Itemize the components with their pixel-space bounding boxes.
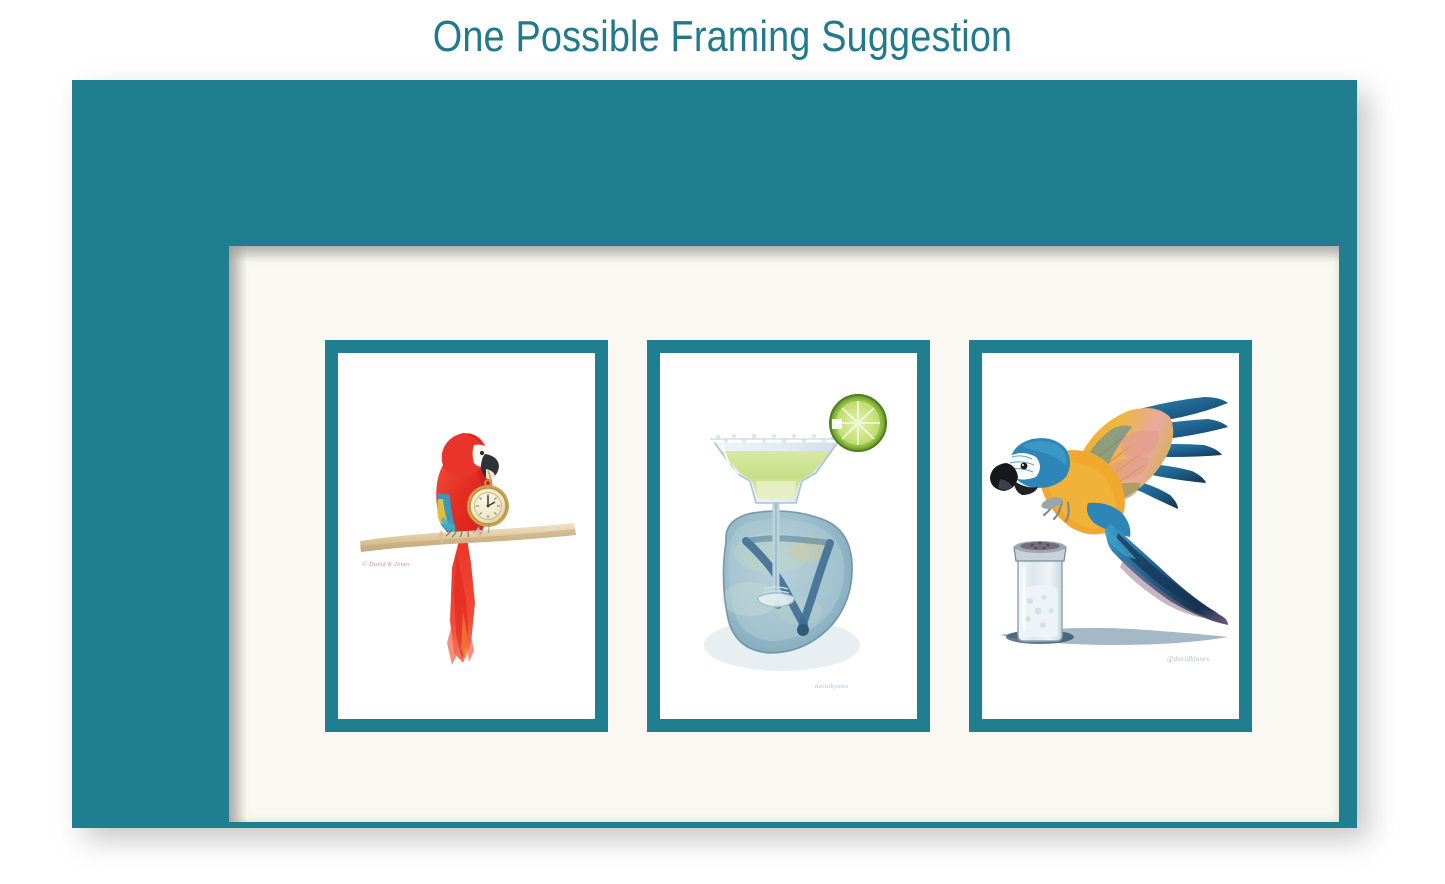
mat-bevel-left-shadow	[229, 246, 247, 822]
artwork-blue-gold-macaw-with-salt-shaker	[982, 353, 1239, 719]
mat-bevel-top-shadow	[229, 246, 1339, 262]
print-paper-2: davidkjones	[660, 353, 917, 719]
print-opening-1[interactable]: © David K Jones	[325, 340, 608, 732]
artwork-scarlet-macaw-with-pocket-watch	[338, 353, 595, 719]
print-paper-1: © David K Jones	[338, 353, 595, 719]
framing-suggestion-image: One Possible Framing Suggestion	[0, 0, 1445, 884]
print-opening-2[interactable]: davidkjones	[647, 340, 930, 732]
artwork-signature-2: davidkjones	[815, 683, 848, 690]
page-title: One Possible Framing Suggestion	[101, 8, 1344, 66]
artwork-signature-3: @davidkjones	[1167, 655, 1209, 663]
artwork-margarita-on-flip-flop	[660, 353, 917, 719]
artwork-signature-1: © David K Jones	[362, 561, 410, 568]
print-paper-3: @davidkjones	[982, 353, 1239, 719]
print-opening-3[interactable]: @davidkjones	[969, 340, 1252, 732]
picture-frame: © David K Jones	[72, 80, 1357, 828]
